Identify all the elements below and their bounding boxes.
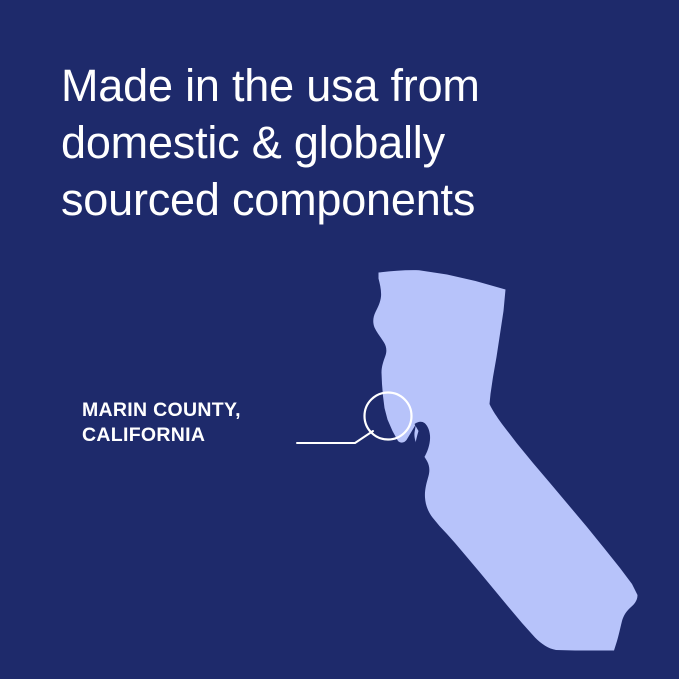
california-state-shape [373,270,637,650]
page-title: Made in the usa from domestic & globally… [61,57,621,228]
callout-leader-line [297,431,373,443]
callout-label-marin-county: MARIN COUNTY, CALIFORNIA [82,398,241,448]
poster-canvas: Made in the usa from domestic & globally… [0,0,679,679]
